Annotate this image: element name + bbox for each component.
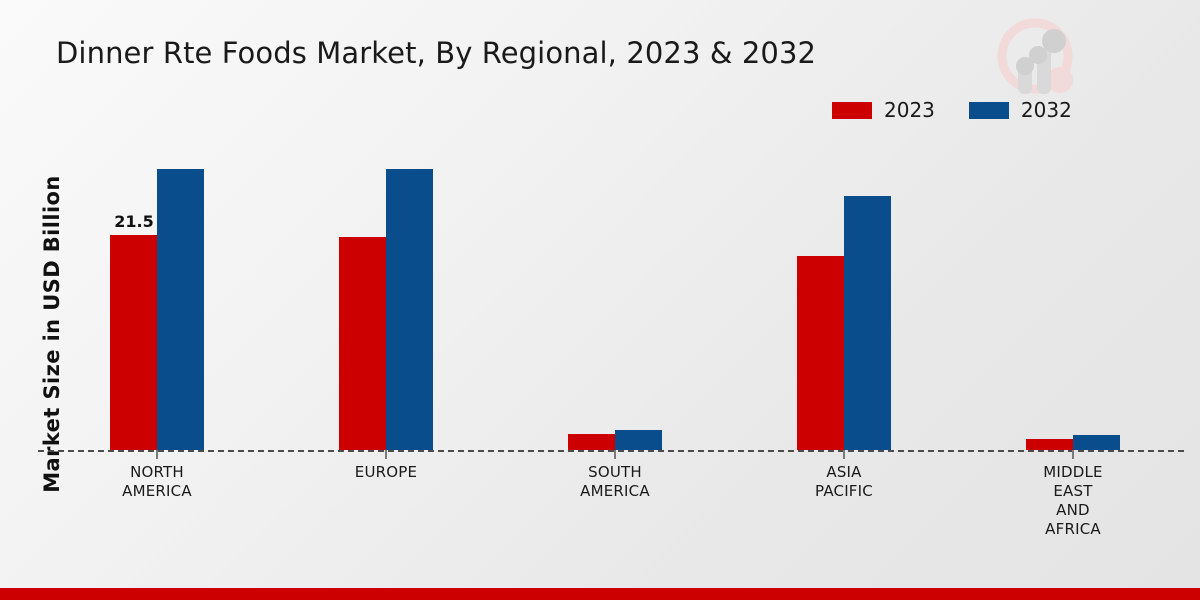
- chart-title: Dinner Rte Foods Market, By Regional, 20…: [56, 36, 816, 70]
- plot-area: 21.5NORTHAMERICAEUROPESOUTHAMERICAASIAPA…: [0, 150, 1200, 450]
- bar-2032[interactable]: [386, 169, 433, 450]
- x-axis-category-label: ASIAPACIFIC: [769, 463, 919, 501]
- bar-2023[interactable]: [1026, 439, 1073, 450]
- x-axis-category-label: NORTHAMERICA: [82, 463, 232, 501]
- x-axis-tick: [156, 450, 158, 459]
- legend-label-2023: 2023: [884, 100, 935, 120]
- legend-item-2023[interactable]: 2023: [832, 100, 935, 120]
- bar-group: SOUTHAMERICA: [568, 150, 662, 450]
- x-axis-baseline: [38, 450, 1184, 452]
- bar-2023[interactable]: [797, 256, 844, 450]
- bar-pair: [339, 150, 433, 450]
- legend-label-2032: 2032: [1021, 100, 1072, 120]
- x-axis-tick: [385, 450, 387, 459]
- x-axis-category-label: SOUTHAMERICA: [540, 463, 690, 501]
- bar-2032[interactable]: [844, 196, 891, 450]
- x-axis-tick: [1072, 450, 1074, 459]
- bar-group: 21.5NORTHAMERICA: [110, 150, 204, 450]
- bar-pair: [568, 150, 662, 450]
- bar-2032[interactable]: [1073, 435, 1120, 450]
- bar-2032[interactable]: [157, 169, 204, 450]
- bar-group: ASIAPACIFIC: [797, 150, 891, 450]
- bar-2023[interactable]: [110, 235, 157, 450]
- bar-2023[interactable]: [339, 237, 386, 450]
- footer-accent-bar: [0, 588, 1200, 600]
- bar-2023[interactable]: [568, 434, 615, 450]
- bar-value-label: 21.5: [108, 212, 160, 231]
- x-axis-category-label: MIDDLEEASTANDAFRICA: [998, 463, 1148, 539]
- legend-swatch-2032: [969, 102, 1009, 119]
- x-axis-category-label: EUROPE: [311, 463, 461, 482]
- legend-item-2032[interactable]: 2032: [969, 100, 1072, 120]
- logo-watermark-icon: [988, 14, 1088, 106]
- chart-canvas: Dinner Rte Foods Market, By Regional, 20…: [0, 0, 1200, 600]
- bar-pair: [1026, 150, 1120, 450]
- bar-group: EUROPE: [339, 150, 433, 450]
- bar-pair: [110, 150, 204, 450]
- legend-swatch-2023: [832, 102, 872, 119]
- bar-2032[interactable]: [615, 430, 662, 450]
- bar-groups: 21.5NORTHAMERICAEUROPESOUTHAMERICAASIAPA…: [0, 150, 1200, 450]
- bar-group: MIDDLEEASTANDAFRICA: [1026, 150, 1120, 450]
- bar-pair: [797, 150, 891, 450]
- chart-legend: 2023 2032: [832, 100, 1072, 120]
- x-axis-tick: [614, 450, 616, 459]
- x-axis-tick: [843, 450, 845, 459]
